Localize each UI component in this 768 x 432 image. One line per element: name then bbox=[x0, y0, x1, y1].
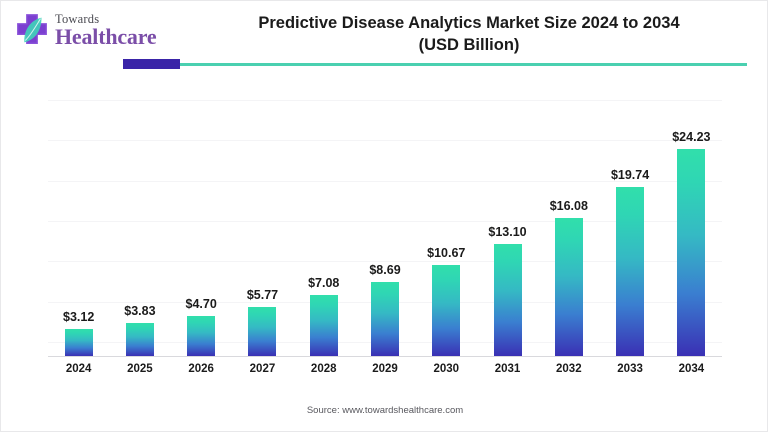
accent-rule-secondary bbox=[123, 63, 747, 66]
bar-value-label: $5.77 bbox=[247, 288, 278, 302]
chart-title-line2: (USD Billion) bbox=[181, 34, 757, 56]
brand-line2: Healthcare bbox=[55, 26, 156, 48]
x-axis-tick-label: 2025 bbox=[127, 363, 153, 375]
bar-group[interactable]: $24.23 bbox=[651, 130, 731, 356]
bar-value-label: $13.10 bbox=[488, 225, 526, 239]
bar[interactable] bbox=[494, 244, 522, 356]
x-axis-tick-label: 2031 bbox=[495, 363, 521, 375]
source-note: Source: www.towardshealthcare.com bbox=[1, 405, 768, 416]
bar[interactable] bbox=[555, 218, 583, 356]
x-axis-tick-label: 2026 bbox=[188, 363, 214, 375]
bar-value-label: $7.08 bbox=[308, 276, 339, 290]
x-axis-tick-label: 2030 bbox=[433, 363, 459, 375]
plot-area: $3.12$3.83$4.70$5.77$7.08$8.69$10.67$13.… bbox=[48, 81, 722, 357]
bar[interactable] bbox=[432, 265, 460, 356]
accent-rule-primary bbox=[123, 59, 180, 69]
brand-logo[interactable]: Towards Healthcare bbox=[13, 11, 156, 49]
x-axis-tick-label: 2033 bbox=[617, 363, 643, 375]
x-axis-tick-label: 2024 bbox=[66, 363, 92, 375]
bar-value-label: $10.67 bbox=[427, 246, 465, 260]
bar[interactable] bbox=[310, 295, 338, 356]
bar[interactable] bbox=[616, 187, 644, 356]
x-axis-labels: 2024202520262027202820292030203120322033… bbox=[48, 363, 722, 381]
x-axis-tick-label: 2032 bbox=[556, 363, 582, 375]
bar-value-label: $16.08 bbox=[550, 199, 588, 213]
bar-value-label: $3.83 bbox=[124, 304, 155, 318]
bar[interactable] bbox=[371, 282, 399, 356]
x-axis-tick-label: 2027 bbox=[250, 363, 276, 375]
x-axis-tick-label: 2028 bbox=[311, 363, 337, 375]
bar-value-label: $24.23 bbox=[672, 130, 710, 144]
infographic-canvas: Towards Healthcare Predictive Disease An… bbox=[0, 0, 768, 432]
medical-cross-leaf-icon bbox=[13, 11, 51, 49]
bar[interactable] bbox=[248, 307, 276, 356]
bar-value-label: $4.70 bbox=[186, 297, 217, 311]
bar-value-label: $19.74 bbox=[611, 168, 649, 182]
chart-title-line1: Predictive Disease Analytics Market Size… bbox=[181, 12, 757, 34]
bar-series: $3.12$3.83$4.70$5.77$7.08$8.69$10.67$13.… bbox=[48, 81, 722, 357]
bar[interactable] bbox=[677, 149, 705, 356]
bar[interactable] bbox=[65, 329, 93, 356]
x-axis-tick-label: 2029 bbox=[372, 363, 398, 375]
x-axis-tick-label: 2034 bbox=[679, 363, 705, 375]
chart-title: Predictive Disease Analytics Market Size… bbox=[181, 12, 757, 57]
bar-value-label: $8.69 bbox=[369, 263, 400, 277]
bar[interactable] bbox=[187, 316, 215, 356]
bar[interactable] bbox=[126, 323, 154, 356]
bar-value-label: $3.12 bbox=[63, 310, 94, 324]
brand-wordmark: Towards Healthcare bbox=[55, 12, 156, 49]
